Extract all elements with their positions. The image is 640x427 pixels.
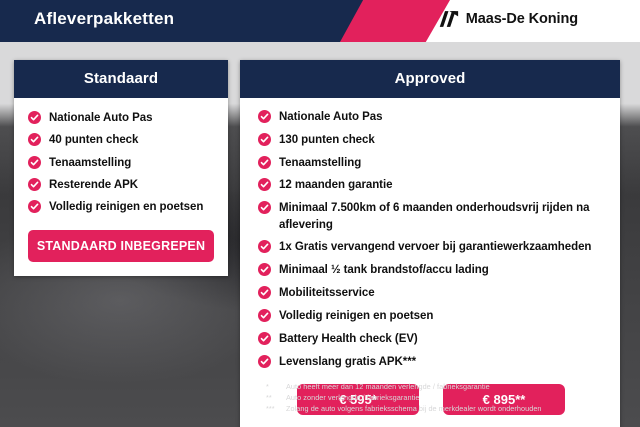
list-item: 12 maanden garantie [258,177,604,193]
list-item: 130 punten check [258,132,604,148]
check-circle-icon [258,178,271,191]
approved-feature-list: Nationale Auto Pas 130 punten check Tena… [258,109,604,370]
feature-text: Nationale Auto Pas [49,110,152,126]
footnote-text: Zolang de auto volgens fabrieksschema bi… [286,403,542,414]
check-circle-icon [28,178,41,191]
page-title: Afleverpakketten [34,9,174,29]
feature-text: Minimaal 7.500km of 6 maanden onderhouds… [279,200,604,233]
brand-name: Maas-De Koning [466,11,578,27]
standaard-inbegrepen-button[interactable]: STANDAARD INBEGREPEN [28,230,214,262]
card-approved-body: Nationale Auto Pas 130 punten check Tena… [240,98,620,427]
feature-text: Volledig reinigen en poetsen [279,308,433,324]
check-circle-icon [258,133,271,146]
footnote-marker: ** [266,392,286,403]
list-item: 40 punten check [28,132,214,148]
feature-text: 1x Gratis vervangend vervoer bij garanti… [279,239,591,255]
check-circle-icon [258,201,271,214]
feature-text: 40 punten check [49,132,138,148]
standaard-feature-list: Nationale Auto Pas 40 punten check Tenaa… [28,110,214,216]
feature-text: Mobiliteitsservice [279,285,375,301]
check-circle-icon [258,332,271,345]
footnote-text: Auto zonder verlengde / fabrieksgarantie [286,392,419,403]
feature-text: Volledig reinigen en poetsen [49,199,203,215]
list-item: Volledig reinigen en poetsen [258,308,604,324]
list-item: Levenslang gratis APK*** [258,354,604,370]
card-approved: Approved Nationale Auto Pas 130 punten c… [240,60,620,427]
feature-text: Tenaamstelling [49,155,131,171]
check-circle-icon [258,309,271,322]
footnote-3: *** Zolang de auto volgens fabrieksschem… [266,403,636,414]
check-circle-icon [258,240,271,253]
list-item: 1x Gratis vervangend vervoer bij garanti… [258,239,604,255]
feature-text: Tenaamstelling [279,155,361,171]
footnote-marker: * [266,381,286,392]
footnote-text: Auto heeft meer dan 12 maanden verlengde… [286,381,490,392]
check-circle-icon [258,263,271,276]
footnote-marker: *** [266,403,286,414]
slide-root: Afleverpakketten Maas-De Koning Standaar… [0,0,640,427]
list-item: Tenaamstelling [258,155,604,171]
maas-de-koning-m-logo-icon [438,10,459,28]
card-standaard: Standaard Nationale Auto Pas 40 punten c… [14,60,228,276]
list-item: Volledig reinigen en poetsen [28,199,214,215]
feature-text: Minimaal ½ tank brandstof/accu lading [279,262,489,278]
list-item: Battery Health check (EV) [258,331,604,347]
check-circle-icon [28,133,41,146]
list-item: Tenaamstelling [28,155,214,171]
card-approved-title: Approved [240,60,620,98]
feature-text: Battery Health check (EV) [279,331,418,347]
list-item: Resterende APK [28,177,214,193]
feature-text: 130 punten check [279,132,375,148]
footnote-2: ** Auto zonder verlengde / fabrieksgaran… [266,392,636,403]
feature-text: 12 maanden garantie [279,177,392,193]
list-item: Minimaal 7.500km of 6 maanden onderhouds… [258,200,604,233]
card-standaard-body: Nationale Auto Pas 40 punten check Tenaa… [14,98,228,276]
check-circle-icon [258,110,271,123]
feature-text: Nationale Auto Pas [279,109,382,125]
card-standaard-title: Standaard [14,60,228,98]
check-circle-icon [258,286,271,299]
list-item: Minimaal ½ tank brandstof/accu lading [258,262,604,278]
list-item: Nationale Auto Pas [258,109,604,125]
check-circle-icon [258,156,271,169]
check-circle-icon [28,111,41,124]
check-circle-icon [258,355,271,368]
feature-text: Resterende APK [49,177,138,193]
page-header: Afleverpakketten Maas-De Koning [0,0,640,42]
feature-text: Levenslang gratis APK*** [279,354,416,370]
footnotes: * Auto heeft meer dan 12 maanden verleng… [266,381,636,414]
list-item: Nationale Auto Pas [28,110,214,126]
check-circle-icon [28,200,41,213]
footnote-1: * Auto heeft meer dan 12 maanden verleng… [266,381,636,392]
brand-logo: Maas-De Koning [438,10,578,28]
check-circle-icon [28,156,41,169]
list-item: Mobiliteitsservice [258,285,604,301]
